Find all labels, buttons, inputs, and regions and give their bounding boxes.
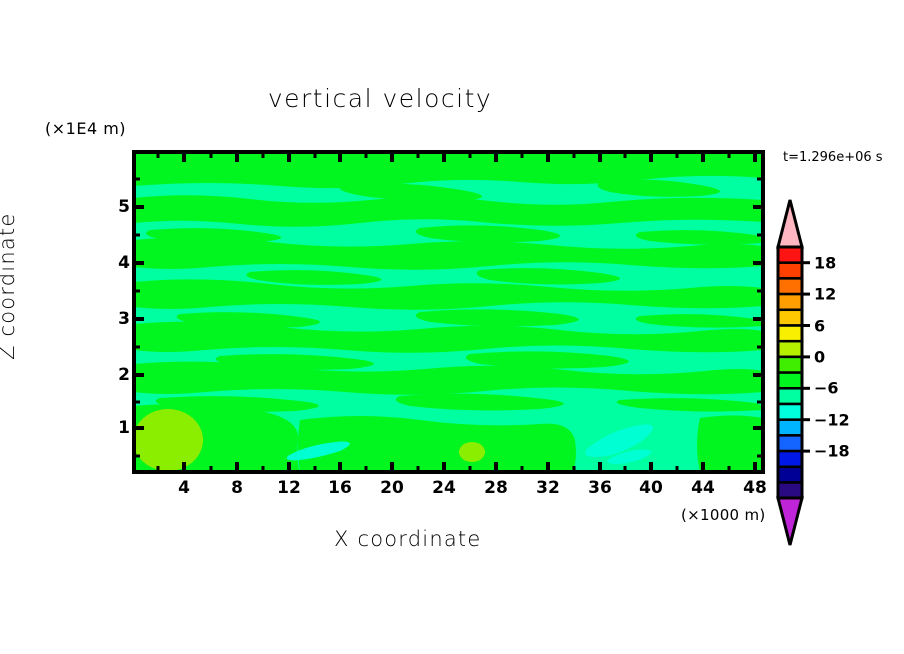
y-tick-label: 2 — [104, 365, 130, 385]
plume-primary — [133, 409, 203, 471]
y-tick-label: 1 — [104, 418, 130, 438]
colorbar-tick-label: 0 — [814, 348, 825, 367]
contour-plot — [0, 0, 904, 654]
contour-field — [133, 152, 763, 472]
y-tick-label: 3 — [104, 309, 130, 329]
y-tick-label: 5 — [104, 197, 130, 217]
x-tick-label: 8 — [231, 478, 243, 498]
y-tick-label: 4 — [104, 253, 130, 273]
plume-secondary — [459, 442, 485, 462]
colorbar-tick-label: −12 — [814, 411, 850, 430]
x-tick-label: 48 — [743, 478, 767, 498]
colorbar-tick-label: −18 — [814, 442, 850, 461]
colorbar-tick-label: 12 — [814, 285, 836, 304]
colorbar-tick-label: 6 — [814, 317, 825, 336]
x-tick-label: 12 — [277, 478, 301, 498]
colorbar-tick-label: −6 — [814, 379, 839, 398]
colorbar-extend-max — [778, 200, 802, 247]
colorbar-extend-min — [778, 498, 802, 545]
x-tick-label: 24 — [432, 478, 456, 498]
x-tick-label: 20 — [380, 478, 404, 498]
colorbar[interactable] — [778, 200, 810, 545]
x-tick-label: 32 — [536, 478, 560, 498]
x-tick-label: 36 — [588, 478, 612, 498]
figure-canvas: vertical velocity (×1E4 m) t=1.296e+06 s… — [0, 0, 904, 654]
x-tick-label: 4 — [178, 478, 190, 498]
x-tick-label: 44 — [691, 478, 715, 498]
colorbar-tick-label: 18 — [814, 254, 836, 273]
x-tick-label: 28 — [484, 478, 508, 498]
x-tick-label: 40 — [639, 478, 663, 498]
colorbar-bands — [778, 247, 802, 498]
x-tick-label: 16 — [328, 478, 352, 498]
